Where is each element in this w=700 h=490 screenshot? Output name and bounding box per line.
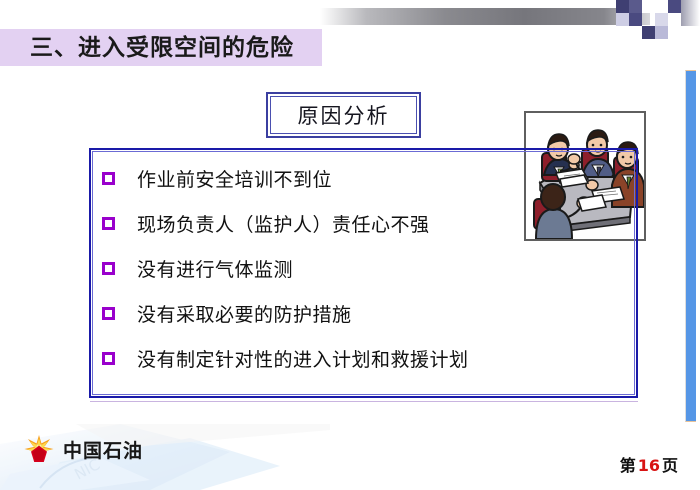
page-suffix: 页 (662, 456, 678, 475)
page-number: 第16页 (620, 452, 678, 476)
page-number-value: 16 (636, 456, 662, 475)
square-bullet-icon (102, 172, 115, 185)
list-item-label: 现场负责人（监护人）责任心不强 (137, 210, 430, 237)
deco-square-3 (629, 13, 642, 26)
petrochina-logo-icon (22, 432, 56, 466)
square-bullet-icon (102, 307, 115, 320)
square-bullet-icon (102, 217, 115, 230)
list-item: 现场负责人（监护人）责任心不强 (102, 201, 642, 246)
footer-brand: 中国石油 (22, 432, 143, 466)
deco-square-6 (655, 13, 668, 26)
right-accent-bar (685, 70, 696, 422)
list-item-label: 作业前安全培训不到位 (137, 165, 332, 192)
list-item: 作业前安全培训不到位 (102, 156, 642, 201)
deco-square-2 (616, 13, 629, 26)
page-title: 三、进入受限空间的危险 (30, 33, 294, 63)
deco-square-8 (668, 0, 681, 13)
deco-square-10 (629, 0, 642, 13)
list-item: 没有采取必要的防护措施 (102, 291, 642, 336)
deco-square-1 (616, 0, 629, 13)
list-item: 没有进行气体监测 (102, 246, 642, 291)
section-heading-label: 原因分析 (298, 100, 390, 130)
deco-square-7 (655, 26, 668, 39)
deco-square-4 (642, 0, 655, 13)
list-item-label: 没有进行气体监测 (137, 255, 293, 282)
section-heading-box-inner: 原因分析 (270, 96, 417, 134)
footer-divider (90, 401, 638, 402)
deco-square-9 (681, 0, 700, 26)
square-bullet-icon (102, 352, 115, 365)
list-item-label: 没有制定针对性的进入计划和救援计划 (137, 345, 469, 372)
list-item: 没有制定针对性的进入计划和救援计划 (102, 336, 642, 381)
list-item-label: 没有采取必要的防护措施 (137, 300, 352, 327)
page-prefix: 第 (620, 456, 636, 475)
section-heading-box: 原因分析 (266, 92, 421, 138)
slide-canvas: 三、进入受限空间的危险 原因分析 (0, 0, 700, 490)
deco-square-5 (642, 26, 655, 39)
square-bullet-icon (102, 262, 115, 275)
top-right-decoration (320, 0, 700, 32)
company-name: 中国石油 (63, 436, 143, 463)
gradient-bar (320, 8, 650, 25)
bullet-list: 作业前安全培训不到位 现场负责人（监护人）责任心不强 没有进行气体监测 没有采取… (102, 156, 642, 381)
